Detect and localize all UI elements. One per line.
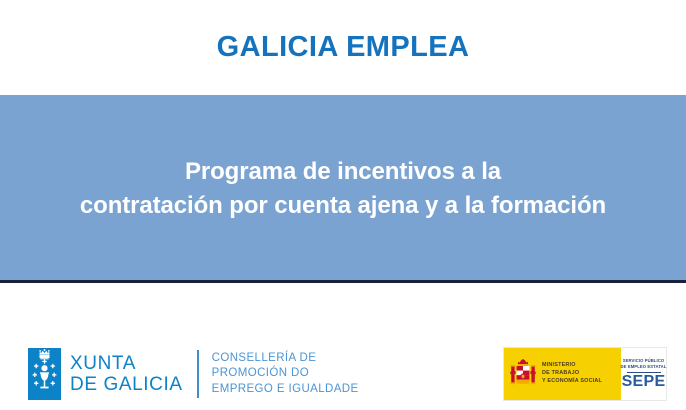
xunta-wordmark-line-1: XUNTA [70, 353, 183, 374]
spain-coat-of-arms-icon [510, 358, 536, 390]
sepe-subtitle: SERVICIO PÚBLICO DE EMPLEO ESTATAL [621, 358, 667, 369]
ministerio-line-2: DE TRABAJO [542, 370, 602, 378]
program-banner: Programa de incentivos a la contratación… [0, 95, 686, 283]
conselleria-line-2: PROMOCIÓN DO [212, 366, 359, 381]
sepe-acronym: SEPE [622, 374, 666, 390]
ministerio-sepe-logo: MINISTERIO DE TRABAJO Y ECONOMÍA SOCIAL … [503, 347, 667, 401]
xunta-wordmark-line-2: DE GALICIA [70, 374, 183, 395]
title-zone: GALICIA EMPLEA [0, 0, 686, 95]
slide-root: GALICIA EMPLEA Programa de incentivos a … [0, 0, 686, 410]
conselleria-block: CONSELLERÍA DE PROMOCIÓN DO EMPREGO E IG… [212, 351, 359, 397]
ministerio-block: MINISTERIO DE TRABAJO Y ECONOMÍA SOCIAL [504, 348, 618, 400]
conselleria-line-1: CONSELLERÍA DE [212, 351, 359, 366]
conselleria-line-3: EMPREGO E IGUALDADE [212, 382, 359, 397]
galicia-coat-of-arms-icon [28, 348, 61, 400]
page-title: GALICIA EMPLEA [217, 33, 470, 62]
ministerio-wordmark: MINISTERIO DE TRABAJO Y ECONOMÍA SOCIAL [542, 362, 602, 385]
logo-divider [197, 350, 199, 398]
banner-line-1: Programa de incentivos a la [185, 154, 501, 188]
ministerio-line-1: MINISTERIO [542, 362, 602, 370]
ministerio-line-3: Y ECONOMÍA SOCIAL [542, 378, 602, 386]
sepe-subtitle-line-2: DE EMPLEO ESTATAL [621, 364, 667, 370]
banner-line-2: contratación por cuenta ajena y a la for… [80, 188, 606, 222]
xunta-de-galicia-logo: XUNTA DE GALICIA CONSELLERÍA DE PROMOCIÓ… [28, 348, 359, 400]
sepe-block: SERVICIO PÚBLICO DE EMPLEO ESTATAL SEPE [618, 348, 666, 400]
xunta-wordmark: XUNTA DE GALICIA [70, 353, 183, 396]
